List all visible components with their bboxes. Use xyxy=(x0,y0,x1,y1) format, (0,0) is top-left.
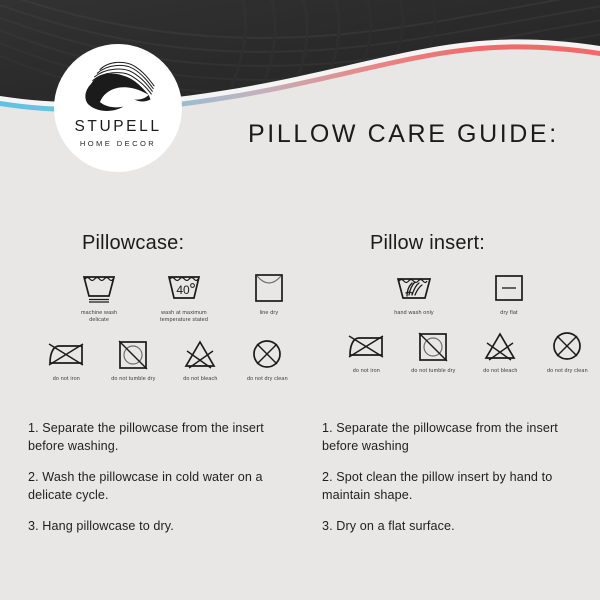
hand-wash-only-symbol: hand wash only xyxy=(376,269,452,317)
section-title-pillow-insert: Pillow insert: xyxy=(370,232,600,255)
symbol-caption: dry flat xyxy=(500,310,517,317)
do-not-iron-symbol: do not iron xyxy=(338,329,395,375)
symbol-caption: line dry xyxy=(260,310,279,317)
brand-logo-badge: STUPELL HOME DECOR xyxy=(54,44,182,172)
do-not-bleach-symbol: do not bleach xyxy=(472,329,529,375)
pillow-insert-symbol-row-1: hand wash only dry flat xyxy=(376,269,600,317)
pillowcase-symbol-row-1: machine wash delicate 40 wash at maximum… xyxy=(68,269,300,325)
do-not-bleach-icon xyxy=(180,337,220,371)
do-not-dry-clean-symbol: do not dry clean xyxy=(235,337,300,383)
symbol-caption: do not bleach xyxy=(183,376,217,383)
do-not-tumble-dry-icon xyxy=(113,337,153,371)
do-not-dry-clean-symbol: do not dry clean xyxy=(535,329,600,375)
pillow-insert-instructions: 1. Separate the pillowcase from the inse… xyxy=(300,420,600,548)
symbol-caption: wash at maximum temperature stated xyxy=(160,310,208,325)
instruction-item: 1. Separate the pillowcase from the inse… xyxy=(28,420,286,456)
line-dry-symbol: line dry xyxy=(238,269,300,317)
section-pillow-insert: Pillow insert: hand was xyxy=(300,232,600,383)
wash-max-temperature-symbol: 40 wash at maximum temperature stated xyxy=(148,269,220,325)
line-dry-icon xyxy=(249,269,289,305)
pillowcase-symbol-row-2: do not iron do not tumble dry xyxy=(38,337,300,383)
machine-wash-delicate-symbol: machine wash delicate xyxy=(68,269,130,325)
do-not-tumble-dry-symbol: do not tumble dry xyxy=(401,329,466,375)
instruction-item: 2. Spot clean the pillow insert by hand … xyxy=(322,469,586,505)
symbol-caption: do not bleach xyxy=(483,368,517,375)
brand-tagline: HOME DECOR xyxy=(80,139,156,148)
page-title: PILLOW CARE GUIDE: xyxy=(248,120,559,149)
instruction-item: 3. Dry on a flat surface. xyxy=(322,518,586,536)
section-title-pillowcase: Pillowcase: xyxy=(82,232,300,255)
do-not-bleach-icon xyxy=(480,329,520,363)
svg-text:40: 40 xyxy=(176,283,190,297)
hand-wash-only-icon xyxy=(393,269,435,305)
do-not-tumble-dry-icon xyxy=(413,329,453,363)
pillowcase-instructions: 1. Separate the pillowcase from the inse… xyxy=(0,420,300,548)
do-not-dry-clean-icon xyxy=(247,337,287,371)
do-not-iron-icon xyxy=(345,329,387,363)
symbol-caption: machine wash delicate xyxy=(81,310,117,325)
care-symbol-columns: Pillowcase: machine wash delicate xyxy=(0,232,600,383)
symbol-caption: do not iron xyxy=(353,368,380,375)
pillow-care-guide-page: STUPELL HOME DECOR PILLOW CARE GUIDE: Pi… xyxy=(0,0,600,600)
do-not-bleach-symbol: do not bleach xyxy=(172,337,229,383)
do-not-tumble-dry-symbol: do not tumble dry xyxy=(101,337,166,383)
wash-max-temperature-40-icon: 40 xyxy=(164,269,204,305)
instruction-item: 2. Wash the pillowcase in cold water on … xyxy=(28,469,286,505)
symbol-caption: do not dry clean xyxy=(247,376,288,383)
symbol-caption: do not tumble dry xyxy=(411,368,455,375)
symbol-caption: do not tumble dry xyxy=(111,376,155,383)
do-not-iron-symbol: do not iron xyxy=(38,337,95,383)
symbol-caption: hand wash only xyxy=(394,310,434,317)
dry-flat-icon xyxy=(489,269,529,305)
brand-name: STUPELL xyxy=(74,118,161,136)
do-not-iron-icon xyxy=(45,337,87,371)
instruction-item: 3. Hang pillowcase to dry. xyxy=(28,518,286,536)
symbol-caption: do not iron xyxy=(53,376,80,383)
section-pillowcase: Pillowcase: machine wash delicate xyxy=(0,232,300,383)
machine-wash-delicate-icon xyxy=(79,269,119,305)
dry-flat-symbol: dry flat xyxy=(476,269,542,317)
symbol-caption: do not dry clean xyxy=(547,368,588,375)
instructions-columns: 1. Separate the pillowcase from the inse… xyxy=(0,420,600,548)
do-not-dry-clean-icon xyxy=(547,329,587,363)
stupell-swoosh-logo-icon xyxy=(72,57,164,113)
instruction-item: 1. Separate the pillowcase from the inse… xyxy=(322,420,586,456)
pillow-insert-symbol-row-2: do not iron do not tumble dry xyxy=(338,329,600,375)
